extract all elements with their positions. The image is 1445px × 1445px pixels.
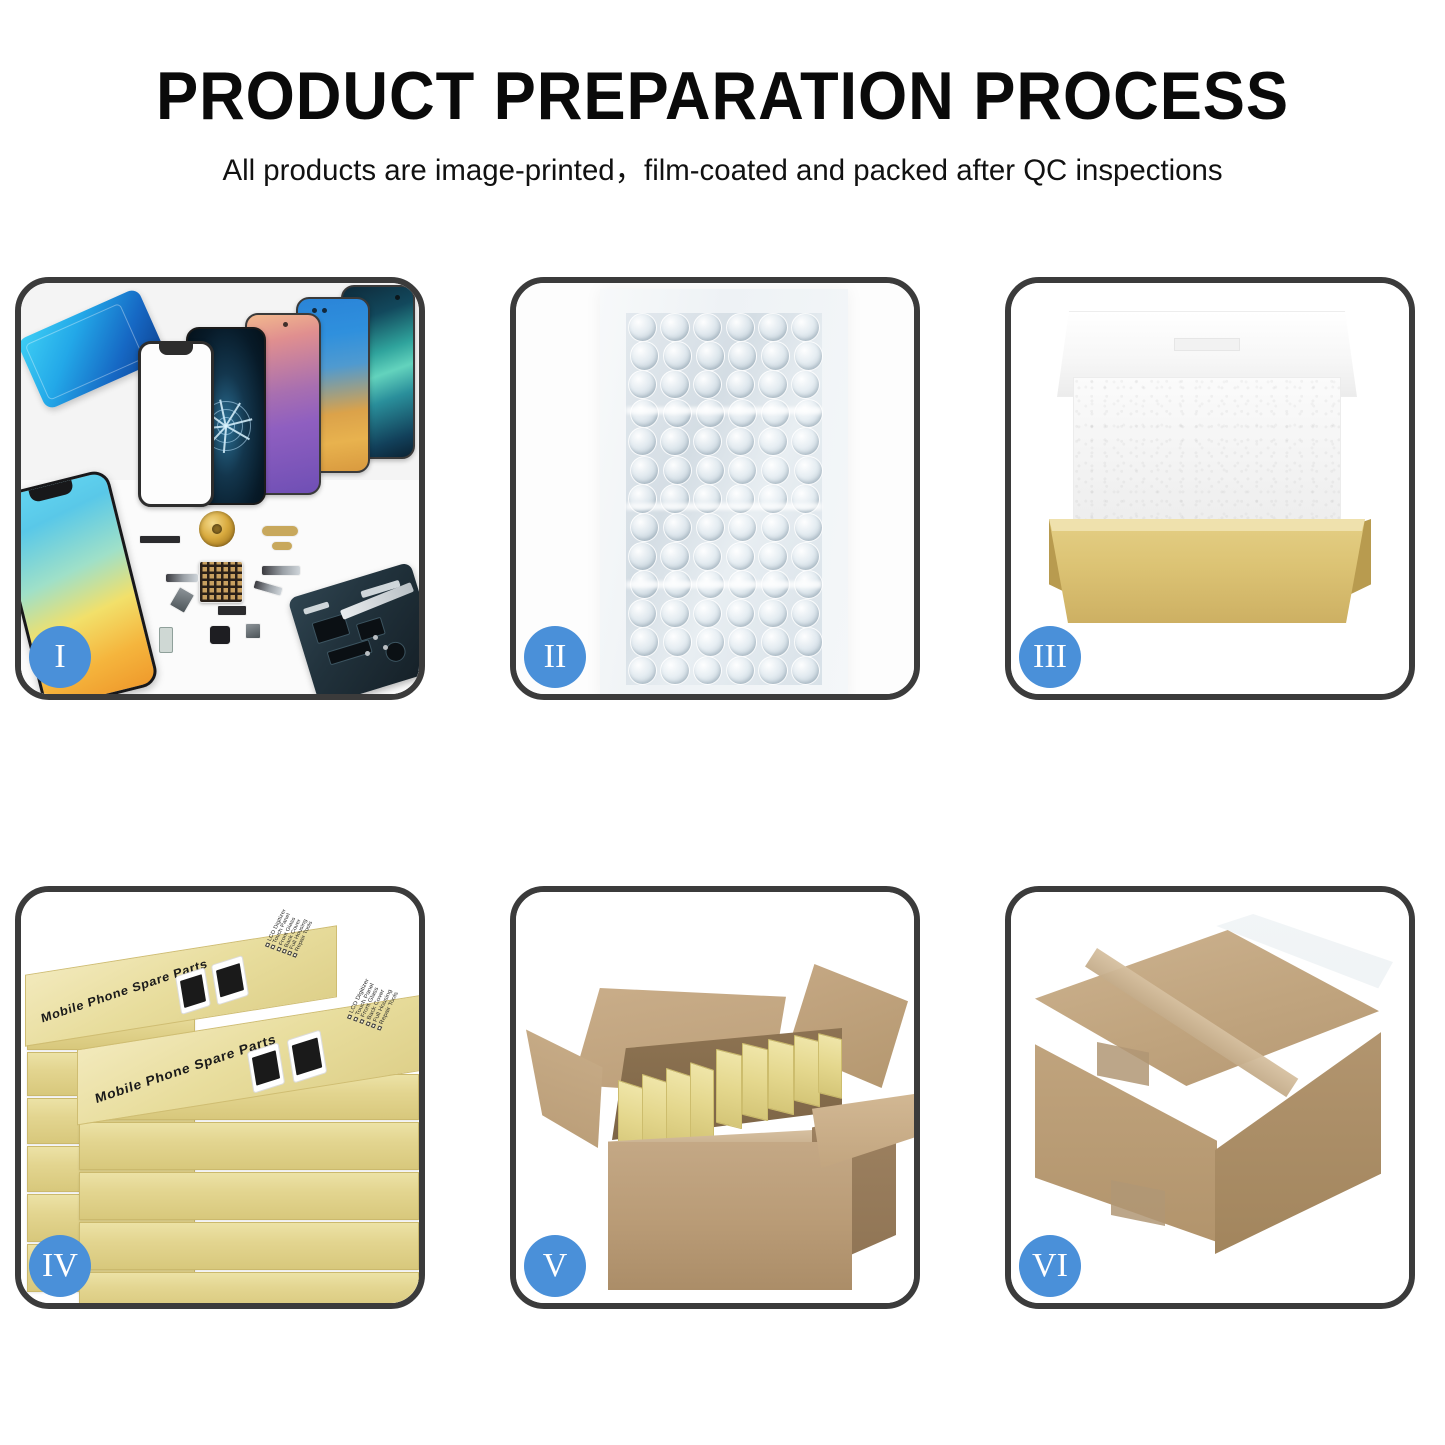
bubble xyxy=(693,542,722,571)
bubble xyxy=(761,513,790,542)
retail-box-in-carton xyxy=(716,1049,742,1129)
volume-flex-part-icon xyxy=(261,565,301,576)
bubble xyxy=(693,656,722,685)
screw-part-icon xyxy=(365,651,370,656)
bubble xyxy=(696,341,725,370)
bubble xyxy=(696,513,725,542)
box-art-phone-1 xyxy=(247,1042,285,1093)
bubble xyxy=(761,341,790,370)
bubble xyxy=(663,513,692,542)
bubble xyxy=(660,313,689,342)
bubble xyxy=(728,341,757,370)
bubble xyxy=(791,599,820,628)
bubble-wrap-image xyxy=(516,283,914,694)
bubble xyxy=(726,542,755,571)
retail-box-in-carton xyxy=(690,1062,714,1146)
bubble xyxy=(663,341,692,370)
bubble xyxy=(628,599,657,628)
bubble xyxy=(758,656,787,685)
process-step-panel-6[interactable]: VI xyxy=(1005,886,1415,1309)
bubble xyxy=(758,427,787,456)
step-badge-5: V xyxy=(524,1235,586,1297)
retail-box-edge xyxy=(79,1122,419,1170)
bubble xyxy=(791,313,820,342)
bubble xyxy=(726,427,755,456)
open-mailer-box-image xyxy=(1011,283,1409,694)
bubble xyxy=(791,542,820,571)
process-step-panel-2[interactable]: II xyxy=(510,277,920,700)
flex-cable-gold-small-part-icon xyxy=(271,541,293,551)
process-step-panel-5[interactable]: V xyxy=(510,886,920,1309)
open-shipping-carton-image xyxy=(516,892,914,1303)
process-step-panel-3[interactable]: III xyxy=(1005,277,1415,700)
bubble xyxy=(726,599,755,628)
box-art-phone-1 xyxy=(175,967,211,1015)
power-flex-part-icon xyxy=(165,573,199,583)
bubble xyxy=(726,656,755,685)
page-title: PRODUCT PREPARATION PROCESS xyxy=(51,62,1395,130)
bubble xyxy=(794,627,823,656)
bubble xyxy=(693,427,722,456)
retail-box-in-carton xyxy=(742,1043,768,1121)
step-badge-6: VI xyxy=(1019,1235,1081,1297)
bubble xyxy=(628,542,657,571)
box-front-panel-icon xyxy=(1049,519,1365,623)
bubble xyxy=(628,656,657,685)
bubble xyxy=(758,370,787,399)
step-badge-3: III xyxy=(1019,626,1081,688)
camera-module-part-icon xyxy=(209,625,231,645)
carton-front-panel xyxy=(608,1142,852,1290)
screw-part-icon xyxy=(373,635,378,640)
bubble xyxy=(660,427,689,456)
bubble xyxy=(728,627,757,656)
bubble xyxy=(693,313,722,342)
checkbox-icon xyxy=(293,953,298,958)
bubble xyxy=(628,313,657,342)
antenna-connector-part-icon xyxy=(245,623,261,639)
retail-box-in-carton xyxy=(768,1039,794,1115)
phone-front-glass-frame-icon xyxy=(138,341,214,507)
stacked-retail-boxes-image: Mobile Phone Spare Parts LCD DigitizerTo… xyxy=(21,892,419,1303)
bubble xyxy=(630,341,659,370)
box-inner-wall-icon xyxy=(1073,377,1341,525)
bubble xyxy=(761,456,790,485)
bubble xyxy=(728,513,757,542)
bubble xyxy=(628,427,657,456)
bubble xyxy=(758,313,787,342)
bubble xyxy=(663,456,692,485)
bubble xyxy=(630,513,659,542)
bubble xyxy=(660,542,689,571)
box-art-phone-2 xyxy=(287,1029,328,1083)
bubble xyxy=(630,627,659,656)
bubble xyxy=(794,341,823,370)
retail-box-edge xyxy=(79,1172,419,1220)
bubble xyxy=(660,656,689,685)
bubble xyxy=(693,370,722,399)
bubble-wrap-sheet-icon xyxy=(600,289,848,694)
flex-cable-gold-part-icon xyxy=(261,525,299,537)
bubble xyxy=(696,627,725,656)
ic-chip-grid-part-icon xyxy=(199,561,243,603)
bubble xyxy=(794,456,823,485)
bubble xyxy=(758,599,787,628)
step-badge-1: I xyxy=(29,626,91,688)
bubble xyxy=(791,656,820,685)
box-front-edge xyxy=(1049,519,1365,531)
retail-box-in-carton xyxy=(818,1033,842,1099)
earpiece-mesh-part-icon xyxy=(139,535,181,544)
bubble xyxy=(728,456,757,485)
bubble xyxy=(791,427,820,456)
bubble xyxy=(791,370,820,399)
step-badge-4: IV xyxy=(29,1235,91,1297)
retail-box-edge xyxy=(79,1272,419,1303)
bubble xyxy=(696,456,725,485)
bubble xyxy=(726,313,755,342)
page-subtitle: All products are image-printed，film-coat… xyxy=(14,156,1430,186)
bubble xyxy=(663,627,692,656)
vibrator-part-icon xyxy=(217,605,247,616)
screw-part-icon xyxy=(383,645,388,650)
process-step-panel-1[interactable]: I xyxy=(15,277,425,700)
bubble xyxy=(660,599,689,628)
checkbox-icon xyxy=(377,1025,382,1030)
bubble xyxy=(758,542,787,571)
bubble xyxy=(794,513,823,542)
speaker-coil-part-icon xyxy=(199,511,235,547)
bubble xyxy=(660,370,689,399)
bubble xyxy=(628,370,657,399)
page-header: PRODUCT PREPARATION PROCESS All products… xyxy=(0,0,1445,186)
bubble xyxy=(726,370,755,399)
process-step-panel-4[interactable]: Mobile Phone Spare Parts LCD DigitizerTo… xyxy=(15,886,425,1309)
step-badge-2: II xyxy=(524,626,586,688)
process-step-grid: I II II xyxy=(15,277,1430,1309)
retail-box-in-carton xyxy=(794,1035,820,1107)
bubble xyxy=(693,599,722,628)
retail-box-edge xyxy=(79,1222,419,1270)
box-art-phone-2 xyxy=(211,955,249,1005)
sealed-shipping-carton-image xyxy=(1011,892,1409,1303)
bubble xyxy=(630,456,659,485)
sim-tray-part-icon xyxy=(159,627,173,653)
phone-parts-collage-image xyxy=(21,283,419,694)
bubble-grid xyxy=(626,313,822,685)
bubble xyxy=(761,627,790,656)
